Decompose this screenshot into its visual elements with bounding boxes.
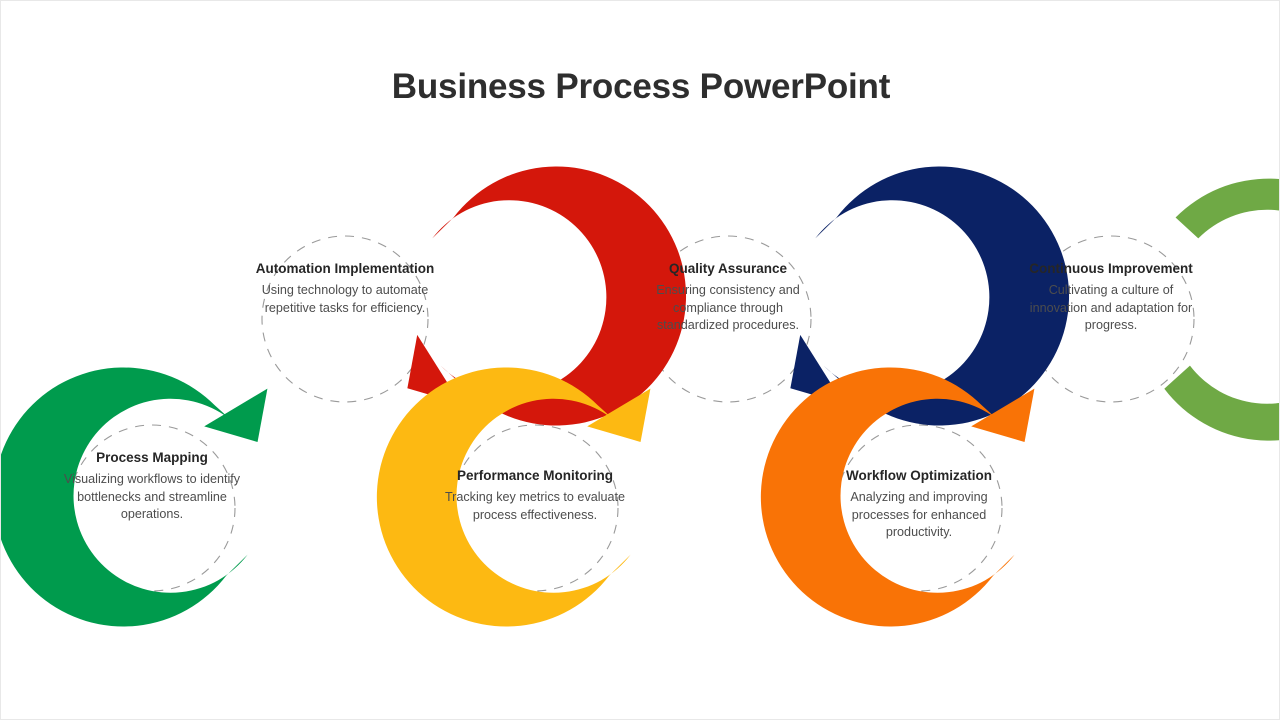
step-description-6: Cultivating a culture of innovation and … [1020,282,1202,336]
step-description-3: Tracking key metrics to evaluate process… [444,489,626,525]
step-title-1: Process Mapping [61,449,243,468]
step-title-6: Continuous Improvement [1020,260,1202,279]
step-description-2: Using technology to automate repetitive … [254,282,436,318]
step-text-6: Continuous Improvement Cultivating a cul… [1020,260,1202,335]
arrowhead-step-1 [204,389,267,442]
slide-canvas: Business Process PowerPoint [0,0,1280,720]
step-text-4: Quality Assurance Ensuring consistency a… [637,260,819,335]
step-text-1: Process Mapping Visualizing workflows to… [61,449,243,524]
step-text-3: Performance Monitoring Tracking key metr… [444,467,626,524]
process-diagram [1,1,1280,720]
step-title-4: Quality Assurance [637,260,819,279]
step-title-5: Workflow Optimization [828,467,1010,486]
step-title-3: Performance Monitoring [444,467,626,486]
step-title-2: Automation Implementation [254,260,436,279]
step-description-1: Visualizing workflows to identify bottle… [61,471,243,525]
step-description-5: Analyzing and improving processes for en… [828,489,1010,543]
step-description-4: Ensuring consistency and compliance thro… [637,282,819,336]
step-text-2: Automation Implementation Using technolo… [254,260,436,317]
step-text-5: Workflow Optimization Analyzing and impr… [828,467,1010,542]
